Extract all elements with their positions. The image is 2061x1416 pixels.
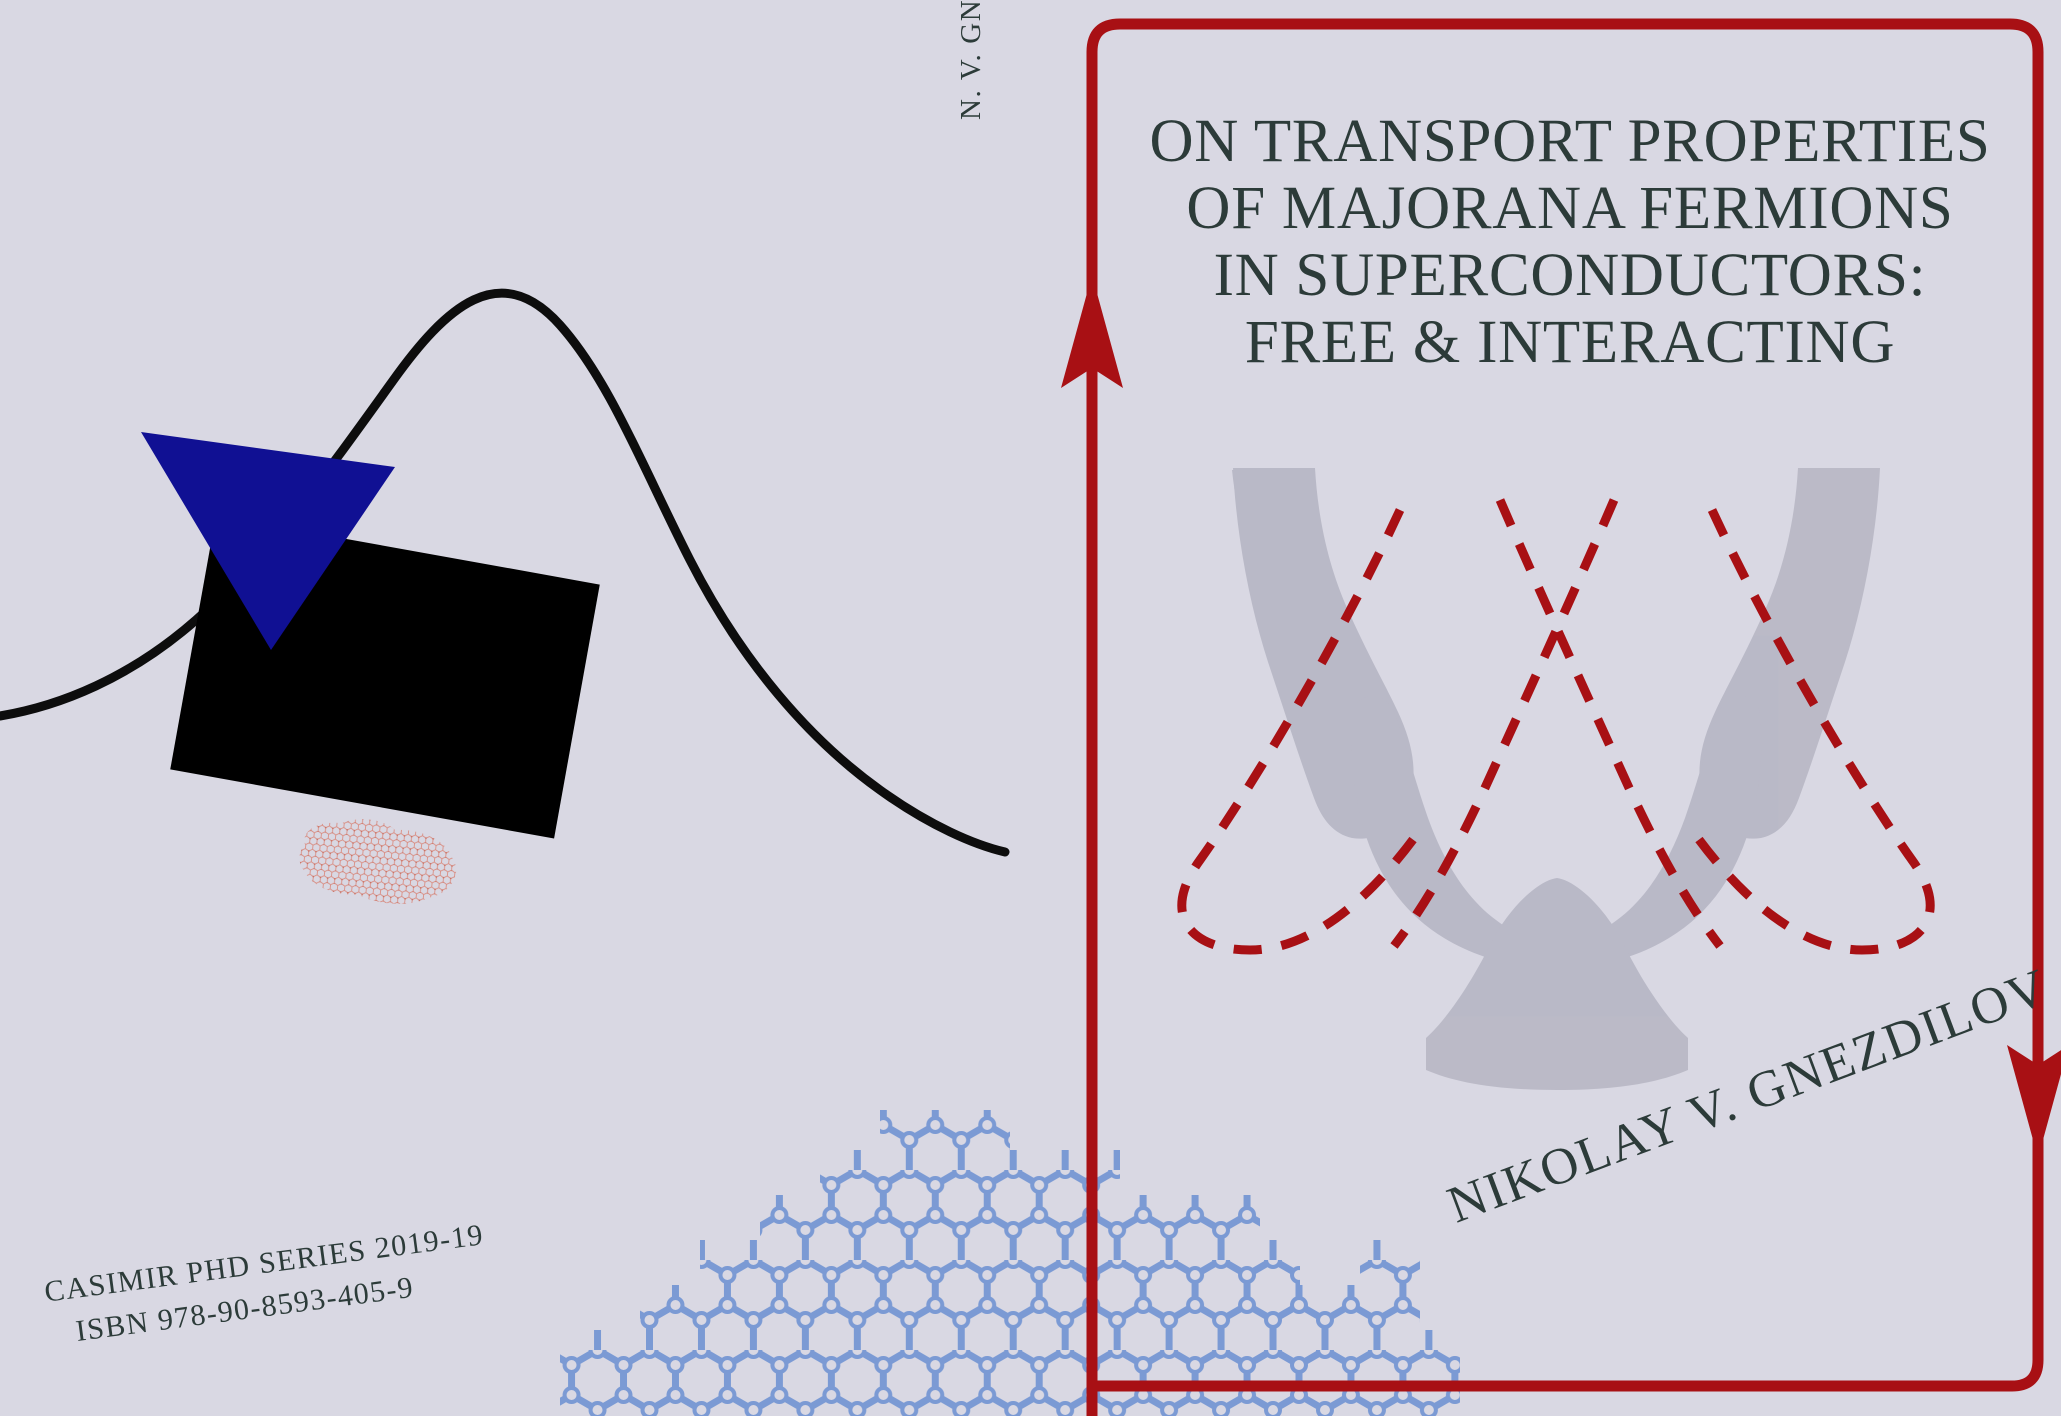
- title-line-1: ON TRANSPORT PROPERTIES: [1120, 108, 2020, 175]
- spine-author-name: N. V. GNEZDILOV: [955, 0, 988, 120]
- book-cover: ON TRANSPORT PROPERTIES OF MAJORANA FERM…: [0, 0, 2061, 1416]
- cover-title: ON TRANSPORT PROPERTIES OF MAJORANA FERM…: [1120, 108, 2020, 376]
- title-line-3: IN SUPERCONDUCTORS:: [1120, 242, 2020, 309]
- title-line-2: OF MAJORANA FERMIONS: [1120, 175, 2020, 242]
- title-line-4: FREE & INTERACTING: [1120, 309, 2020, 376]
